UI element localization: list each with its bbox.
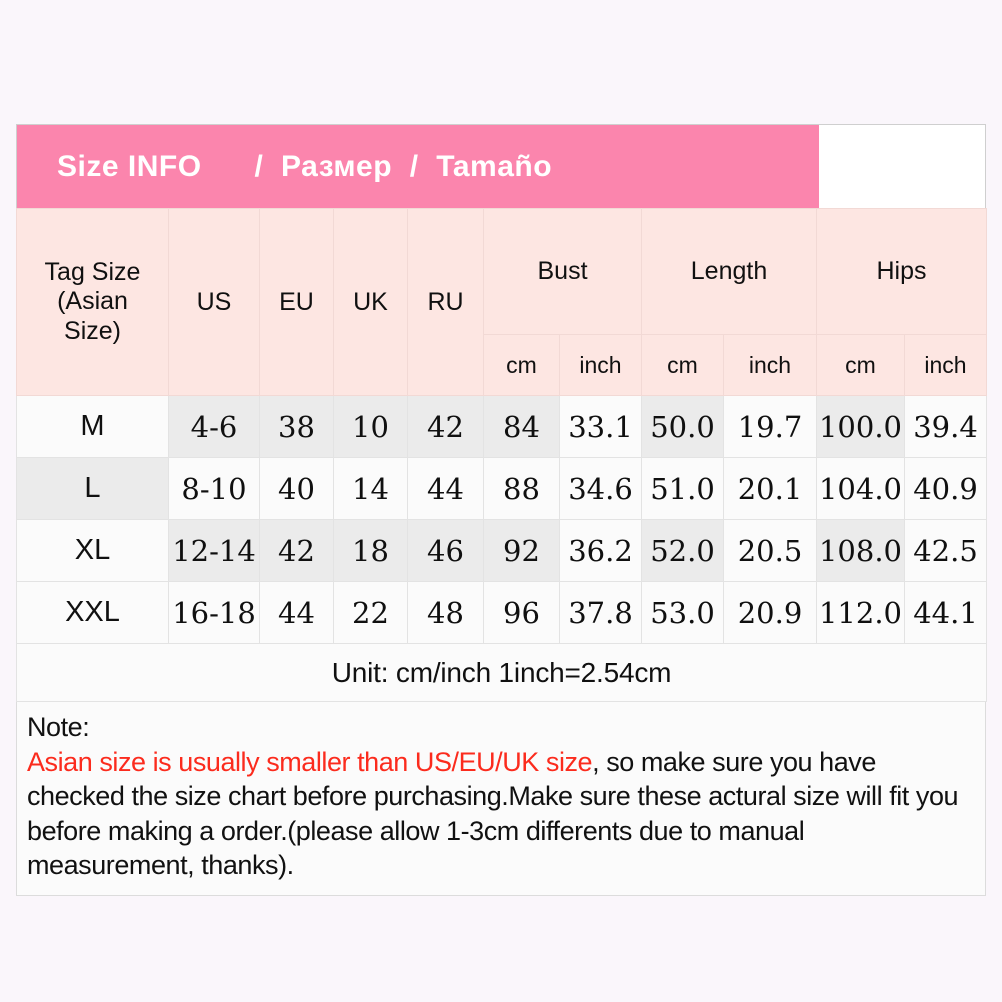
cell-tag-size: L xyxy=(17,458,169,520)
cell-eu: 42 xyxy=(260,520,334,582)
cell-bust-cm: 84 xyxy=(484,396,560,458)
table-unit-footer-row: Unit: cm/inch 1inch=2.54cm xyxy=(17,644,987,702)
cell-length-cm: 52.0 xyxy=(642,520,724,582)
cell-tag-size: XXL xyxy=(17,582,169,644)
header-hips-cm: cm xyxy=(817,335,905,396)
header-tag-size: Tag Size (Asian Size) xyxy=(17,209,169,396)
note-paragraph: Asian size is usually smaller than US/EU… xyxy=(27,745,975,883)
cell-ru: 48 xyxy=(408,582,484,644)
note-label: Note: xyxy=(27,710,975,745)
cell-bust-inch: 34.6 xyxy=(560,458,642,520)
cell-tag-size: XL xyxy=(17,520,169,582)
cell-length-cm: 53.0 xyxy=(642,582,724,644)
size-info-title: Size INFO / Размер / Tamaño xyxy=(57,150,552,184)
cell-ru: 44 xyxy=(408,458,484,520)
header-bust-inch: inch xyxy=(560,335,642,396)
header-group-length: Length xyxy=(642,209,817,335)
table-row: M 4-6 38 10 42 84 33.1 50.0 19.7 100.0 3… xyxy=(17,396,987,458)
cell-ru: 46 xyxy=(408,520,484,582)
cell-length-inch: 20.1 xyxy=(724,458,817,520)
header-group-hips: Hips xyxy=(817,209,987,335)
header-us: US xyxy=(169,209,260,396)
cell-hips-cm: 108.0 xyxy=(817,520,905,582)
banner-blank-area xyxy=(819,125,985,208)
cell-length-inch: 20.5 xyxy=(724,520,817,582)
cell-uk: 10 xyxy=(334,396,408,458)
header-tag-size-line1: Tag Size xyxy=(17,258,168,288)
cell-eu: 44 xyxy=(260,582,334,644)
cell-bust-inch: 36.2 xyxy=(560,520,642,582)
cell-length-inch: 20.9 xyxy=(724,582,817,644)
table-row: XXL 16-18 44 22 48 96 37.8 53.0 20.9 112… xyxy=(17,582,987,644)
cell-hips-cm: 104.0 xyxy=(817,458,905,520)
header-eu: EU xyxy=(260,209,334,396)
cell-us: 8-10 xyxy=(169,458,260,520)
cell-bust-inch: 33.1 xyxy=(560,396,642,458)
cell-tag-size: M xyxy=(17,396,169,458)
header-length-cm: cm xyxy=(642,335,724,396)
cell-length-inch: 19.7 xyxy=(724,396,817,458)
header-hips-inch: inch xyxy=(905,335,987,396)
header-bust-cm: cm xyxy=(484,335,560,396)
cell-hips-cm: 112.0 xyxy=(817,582,905,644)
cell-hips-inch: 40.9 xyxy=(905,458,987,520)
header-length-inch: inch xyxy=(724,335,817,396)
size-chart: Size INFO / Размер / Tamaño Tag Size (As… xyxy=(16,124,986,896)
note-highlight: Asian size is usually smaller than US/EU… xyxy=(27,747,592,777)
note-box: Note: Asian size is usually smaller than… xyxy=(16,702,986,896)
header-uk: UK xyxy=(334,209,408,396)
cell-hips-inch: 39.4 xyxy=(905,396,987,458)
cell-us: 4-6 xyxy=(169,396,260,458)
table-row: XL 12-14 42 18 46 92 36.2 52.0 20.5 108.… xyxy=(17,520,987,582)
cell-hips-inch: 44.1 xyxy=(905,582,987,644)
header-tag-size-line3: Size) xyxy=(17,317,168,347)
cell-length-cm: 50.0 xyxy=(642,396,724,458)
header-group-bust: Bust xyxy=(484,209,642,335)
header-tag-size-line2: (Asian xyxy=(17,287,168,317)
banner-pink-area: Size INFO / Размер / Tamaño xyxy=(17,125,819,208)
cell-hips-cm: 100.0 xyxy=(817,396,905,458)
table-row: L 8-10 40 14 44 88 34.6 51.0 20.1 104.0 … xyxy=(17,458,987,520)
size-table: Tag Size (Asian Size) US EU UK RU Bust L… xyxy=(16,208,987,702)
cell-eu: 38 xyxy=(260,396,334,458)
cell-us: 12-14 xyxy=(169,520,260,582)
cell-uk: 22 xyxy=(334,582,408,644)
cell-bust-cm: 92 xyxy=(484,520,560,582)
cell-hips-inch: 42.5 xyxy=(905,520,987,582)
cell-bust-cm: 96 xyxy=(484,582,560,644)
unit-conversion-text: Unit: cm/inch 1inch=2.54cm xyxy=(17,644,987,702)
header-ru: RU xyxy=(408,209,484,396)
cell-uk: 14 xyxy=(334,458,408,520)
size-info-banner: Size INFO / Размер / Tamaño xyxy=(16,124,986,208)
cell-bust-cm: 88 xyxy=(484,458,560,520)
cell-us: 16-18 xyxy=(169,582,260,644)
cell-uk: 18 xyxy=(334,520,408,582)
cell-eu: 40 xyxy=(260,458,334,520)
table-group-header-row: Tag Size (Asian Size) US EU UK RU Bust L… xyxy=(17,209,987,335)
cell-ru: 42 xyxy=(408,396,484,458)
cell-bust-inch: 37.8 xyxy=(560,582,642,644)
cell-length-cm: 51.0 xyxy=(642,458,724,520)
